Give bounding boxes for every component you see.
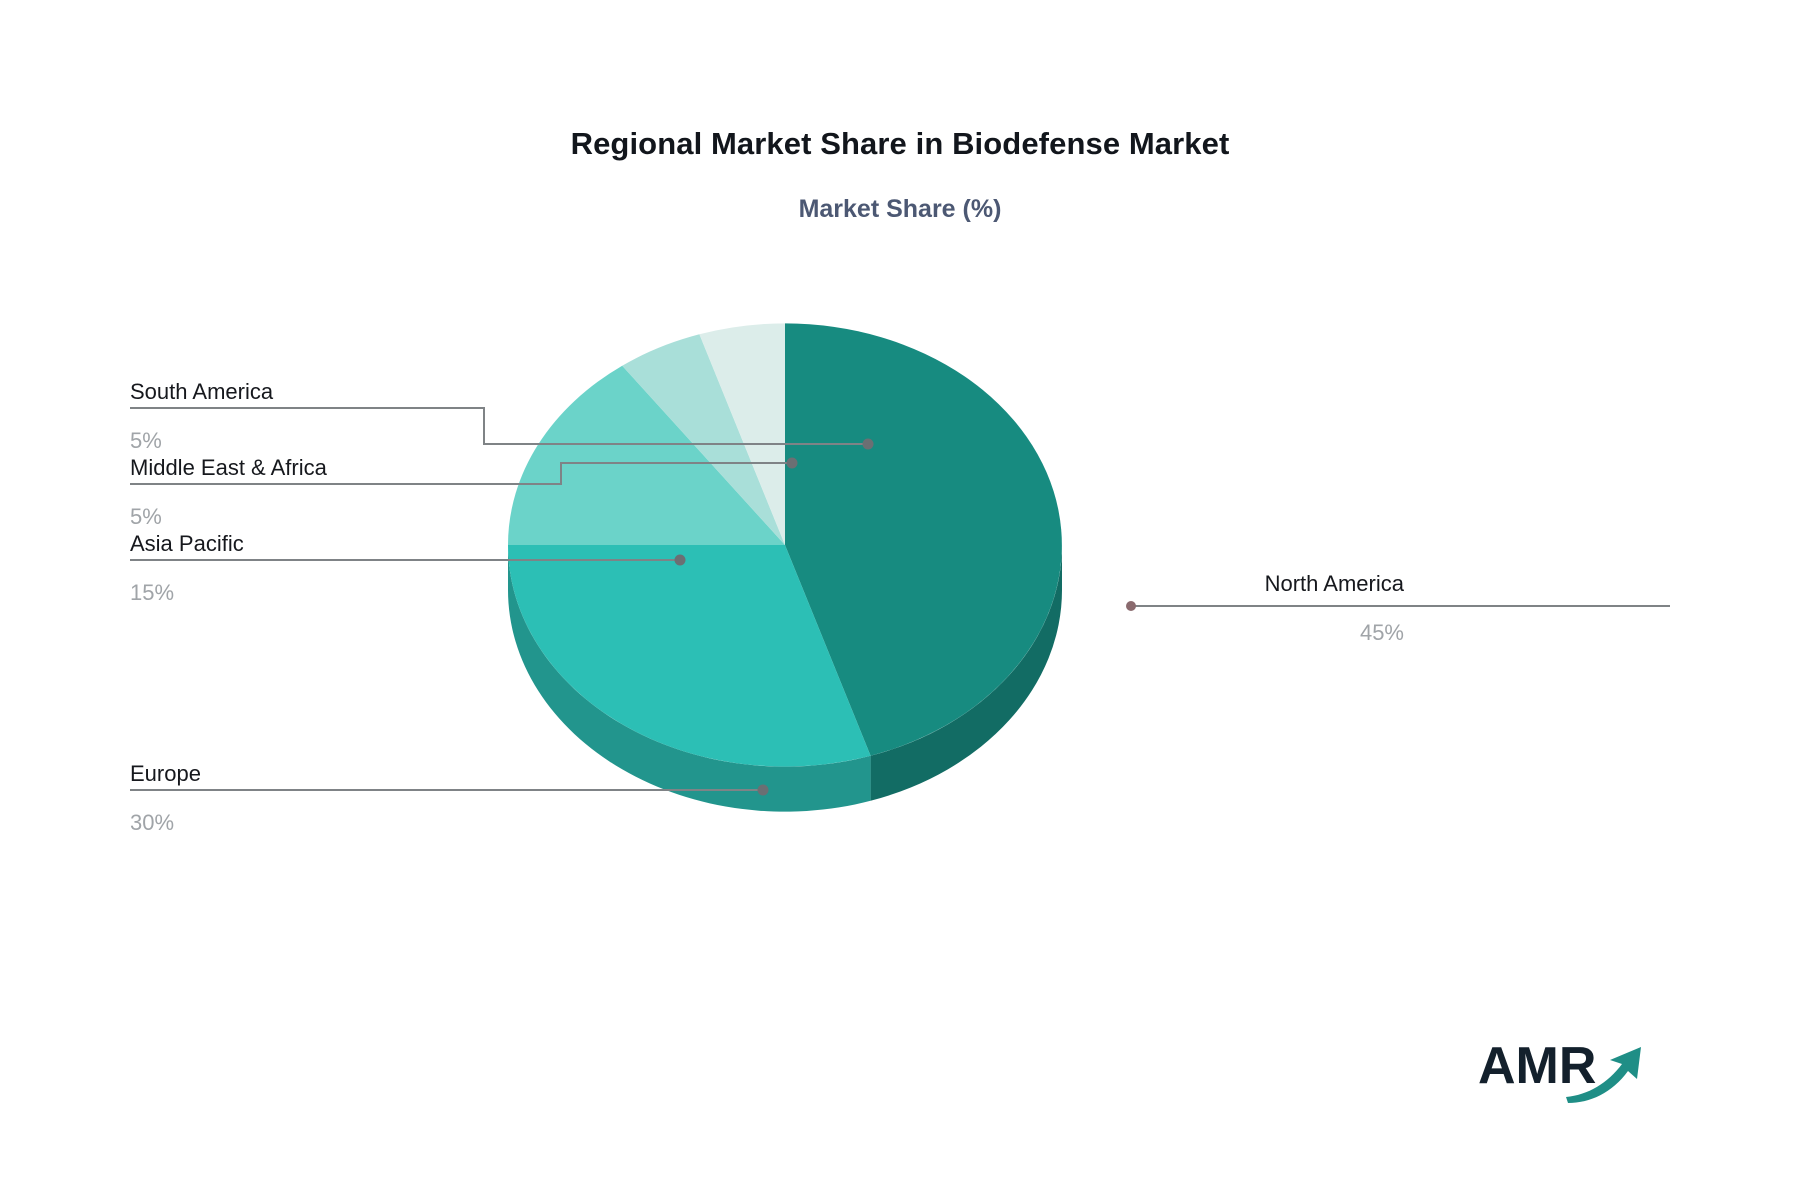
leader-dot-north-america [1126, 601, 1136, 611]
callout-label-europe: Europe [130, 763, 201, 785]
callout-value-south-america: 5% [130, 430, 273, 452]
chart-subtitle: Market Share (%) [0, 195, 1800, 224]
callout-label-middle-east-africa: Middle East & Africa [130, 457, 327, 479]
callout-value-middle-east-africa: 5% [130, 506, 327, 528]
pie-slice-europe[interactable] [508, 545, 871, 767]
pie-slice-middle-east-africa[interactable] [622, 334, 785, 545]
callout-north-america[interactable]: North America 45% [1265, 573, 1404, 644]
callout-label-asia-pacific: Asia Pacific [130, 533, 244, 555]
leader-lines [130, 408, 1670, 796]
pie-chart-figure [0, 0, 1800, 1196]
callout-middle-east-africa[interactable]: Middle East & Africa 5% [130, 457, 327, 528]
pie-wall-europe [508, 545, 871, 812]
callout-value-north-america: 45% [1265, 622, 1404, 644]
leader-dot-europe [758, 785, 769, 796]
callout-value-europe: 30% [130, 812, 201, 834]
amr-logo: AMR [1478, 1033, 1648, 1105]
amr-logo-text: AMR [1478, 1037, 1596, 1095]
leader-dot-asia-pacific [675, 555, 686, 566]
leader-dot-middle-east-africa [787, 458, 798, 469]
leader-dot-south-america [863, 439, 874, 450]
callout-label-north-america: North America [1265, 573, 1404, 595]
callout-value-asia-pacific: 15% [130, 582, 244, 604]
callout-south-america[interactable]: South America 5% [130, 381, 273, 452]
chart-title: Regional Market Share in Biodefense Mark… [0, 126, 1800, 162]
chart-canvas: Regional Market Share in Biodefense Mark… [0, 0, 1800, 1196]
pie-slice-asia-pacific[interactable] [508, 366, 785, 545]
amr-logo-icon: AMR [1478, 1033, 1648, 1105]
pie-top-face [508, 323, 1062, 766]
callout-europe[interactable]: Europe 30% [130, 763, 201, 834]
pie-3d-side-walls [508, 545, 1062, 812]
pie-wall-north-america [871, 545, 1062, 801]
callout-label-south-america: South America [130, 381, 273, 403]
pie-slice-south-america[interactable] [699, 323, 785, 545]
pie-slice-north-america[interactable] [785, 323, 1062, 755]
callout-asia-pacific[interactable]: Asia Pacific 15% [130, 533, 244, 604]
